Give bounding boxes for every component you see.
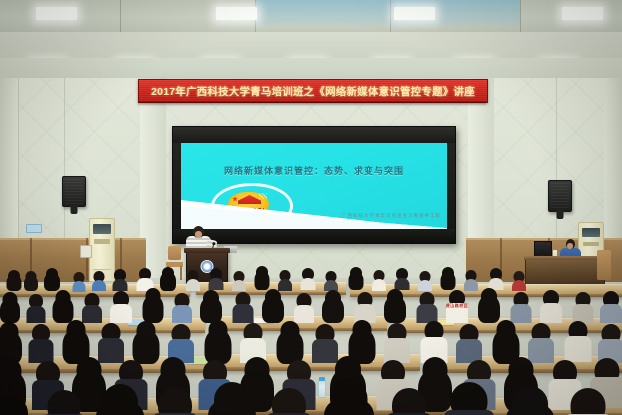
audience-person: [372, 270, 386, 290]
audience-person: [354, 292, 375, 322]
slide-title: 网络新媒体意识管控：态势、求变与突围: [181, 164, 447, 177]
audience-person: [24, 271, 38, 290]
ceiling-lower: [0, 32, 622, 58]
audience-person: 虎山路校区: [446, 290, 468, 322]
audience-person: [92, 271, 106, 290]
lecture-hall-scene: 2017年广西科技大学青马培训班之《网络新媒体意识管控专题》讲座 网络新媒体意识…: [0, 0, 622, 415]
wall-speaker-left: [62, 176, 86, 207]
audience-person-front: [266, 388, 312, 415]
shirt-print-text: 虎山路校区: [446, 303, 469, 309]
audience-person: [232, 271, 246, 290]
audience-person-front: [386, 388, 432, 415]
audience-person: [62, 320, 89, 362]
audience-person: [6, 270, 21, 290]
audience-person: [416, 292, 437, 322]
ceiling-light: [394, 7, 435, 20]
audience-person-front: [42, 390, 86, 415]
audience-person-front: [0, 396, 34, 415]
audience-person: [276, 321, 303, 362]
audience-person: [300, 268, 315, 290]
audience-person: [110, 291, 132, 322]
ceiling-light: [216, 7, 257, 20]
audience-person: [598, 324, 622, 362]
audience-person: [440, 267, 455, 290]
audience-person-front: [208, 382, 256, 415]
av-operator-face: [567, 243, 573, 249]
wall-outlet-box-left: [80, 245, 92, 258]
audience-person: [294, 293, 314, 322]
audience-area: 虎山路校区: [0, 262, 622, 415]
audience-person: [492, 320, 519, 362]
screen-top-bezel: [173, 127, 455, 143]
banner-shadow: [138, 101, 486, 106]
audience-person: [278, 270, 292, 290]
audience-person: [0, 292, 20, 322]
audience-person: [172, 293, 192, 322]
audience-person: [464, 270, 478, 290]
event-banner-text: 2017年广西科技大学青马培训班之《网络新媒体意识管控专题》讲座: [151, 84, 475, 99]
audience-person: [204, 320, 231, 362]
audience-person: [324, 271, 338, 290]
audience-person: [136, 268, 153, 290]
audience-person: [348, 267, 363, 290]
audience-person: [540, 290, 562, 322]
ceiling-light: [36, 7, 77, 20]
audience-person: [384, 289, 406, 322]
audience-person: [232, 292, 253, 322]
audience-person-front: [444, 382, 494, 415]
projection-screen: 网络新媒体意识管控：态势、求变与突围 广西科技大学青年马克思主义者培养工程: [172, 126, 456, 244]
audience-person-front: [564, 388, 612, 415]
audience-person-front: [152, 388, 198, 415]
audience-person: [200, 290, 222, 322]
audience-person: [112, 269, 127, 290]
presentation-slide: 网络新媒体意识管控：态势、求变与突围 广西科技大学青年马克思主义者培养工程: [181, 143, 447, 229]
audience-person: [26, 294, 45, 322]
audience-person: [82, 293, 102, 322]
audience-person: [394, 268, 409, 290]
audience-person: [52, 290, 73, 322]
audience-person-front: [506, 386, 554, 415]
audience-person: [600, 291, 622, 322]
audience-person: [132, 321, 159, 362]
wall-sign-left: [26, 224, 42, 233]
audience-person: [420, 321, 447, 362]
audience-person: [208, 268, 223, 290]
presenter-face: [195, 231, 202, 238]
audience-person: [418, 271, 432, 290]
audience-person: [572, 292, 593, 322]
audience-person-front: [324, 380, 374, 415]
ceiling-blue-panel: [255, 0, 520, 26]
audience-person: [72, 272, 85, 290]
audience-person: [186, 270, 200, 290]
audience-person: [254, 266, 269, 290]
audience-person: [478, 288, 500, 322]
event-banner: 2017年广西科技大学青马培训班之《网络新媒体意识管控专题》讲座: [138, 79, 488, 103]
upper-wall-band: [0, 58, 622, 80]
audience-person: [0, 322, 22, 362]
audience-person: [44, 268, 60, 290]
audience-person: [262, 289, 284, 322]
audience-person: [510, 292, 531, 322]
audience-person: [564, 321, 591, 362]
audience-person: [512, 271, 526, 290]
audience-person: [28, 324, 53, 362]
audience-person-front: [96, 384, 144, 415]
slide-subtitle: 广西科技大学青年马克思主义者培养工程: [342, 213, 441, 219]
audience-person: [384, 323, 410, 362]
audience-person: [322, 290, 344, 322]
wall-speaker-right: [548, 180, 572, 212]
ceiling-light: [562, 7, 603, 20]
audience-person: [488, 268, 503, 290]
audience-person: [142, 288, 163, 322]
audience-person: [456, 324, 482, 362]
